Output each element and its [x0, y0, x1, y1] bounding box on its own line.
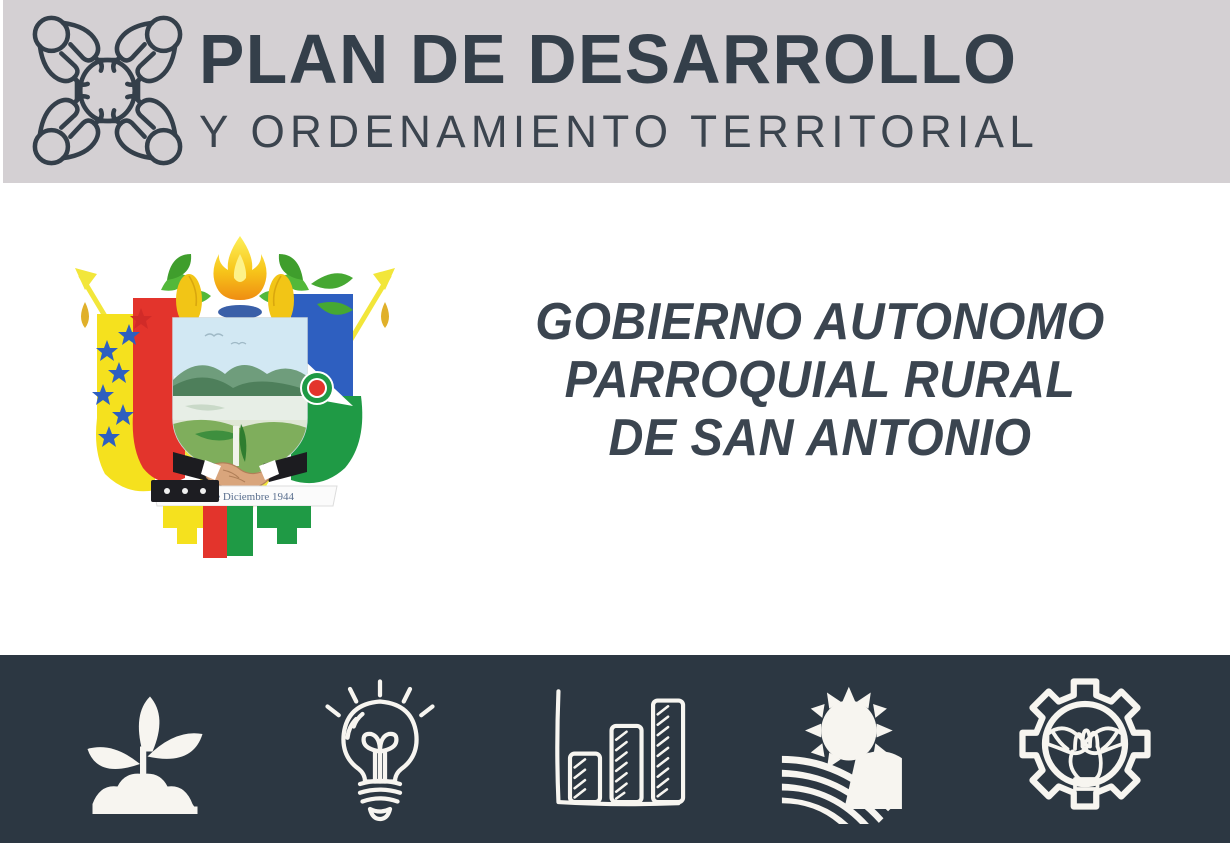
plant-sprout-icon: [70, 674, 220, 824]
government-title-line-1: GOBIERNO AUTONOMO: [448, 293, 1192, 351]
header-title-group: PLAN DE DESARROLLO Y ORDENAMIENTO TERRIT…: [199, 4, 1209, 160]
coat-of-arms-emblem: 13 de Diciembre 1944: [45, 228, 425, 568]
sun-field-icon: [775, 674, 925, 824]
page-title: PLAN DE DESARROLLO: [199, 4, 1179, 102]
pdot-cover-page: PLAN DE DESARROLLO Y ORDENAMIENTO TERRIT…: [0, 0, 1230, 843]
community-people-circle-icon: [25, 8, 190, 173]
government-title: GOBIERNO AUTONOMO PARROQUIAL RURAL DE SA…: [420, 293, 1220, 467]
bar-chart-icon: [540, 674, 690, 824]
page-subtitle: Y ORDENAMIENTO TERRITORIAL: [199, 102, 1189, 160]
body-area: 13 de Diciembre 1944: [0, 183, 1230, 655]
footer-icon-strip: [0, 655, 1230, 843]
lightbulb-icon: [305, 674, 455, 824]
government-title-line-3: DE SAN ANTONIO: [448, 409, 1192, 467]
header-band: PLAN DE DESARROLLO Y ORDENAMIENTO TERRIT…: [3, 0, 1230, 183]
government-title-line-2: PARROQUIAL RURAL: [448, 351, 1192, 409]
gear-hands-icon: [1010, 674, 1160, 824]
